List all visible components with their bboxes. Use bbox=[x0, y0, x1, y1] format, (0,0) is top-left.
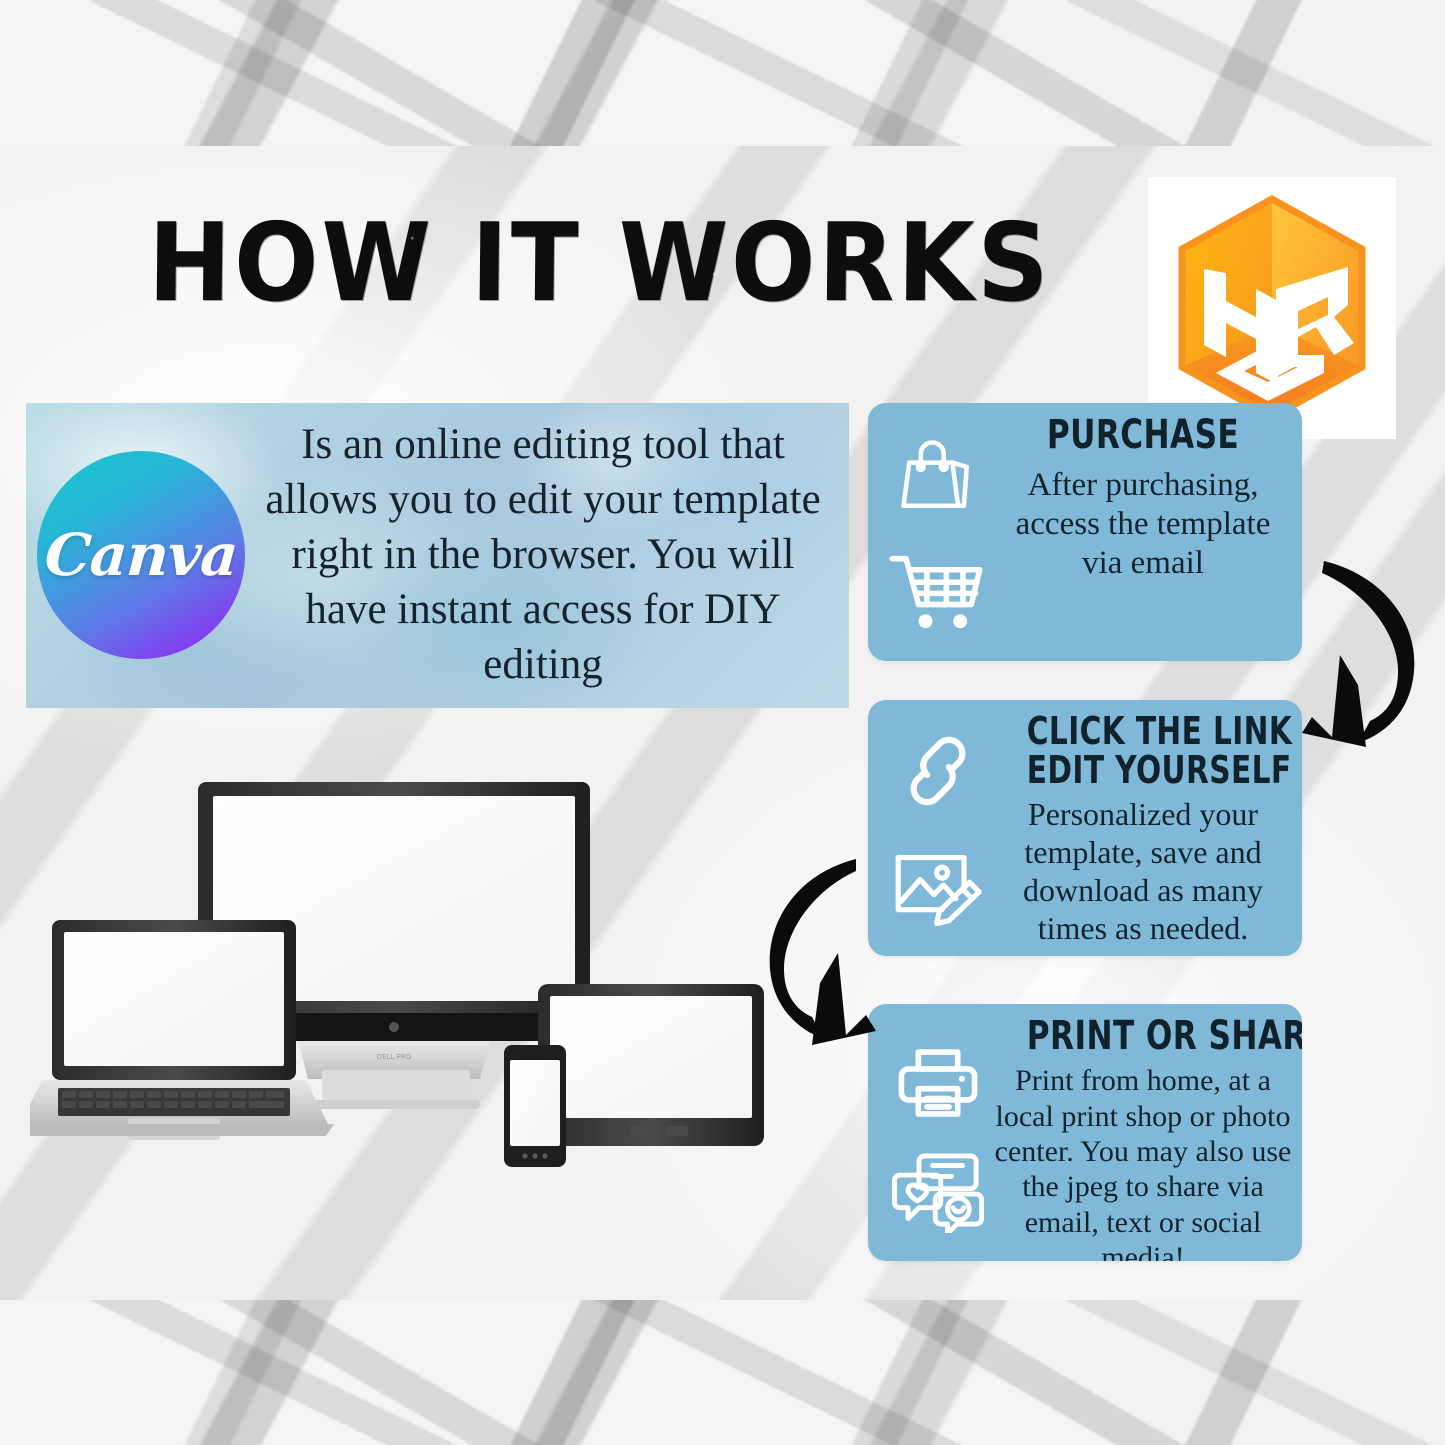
paper-texture-top-border bbox=[0, 0, 1445, 146]
edit-text-block: CLICK THE LINK AND EDIT YOURSELF Persona… bbox=[994, 712, 1292, 947]
edit-title-line1: CLICK THE LINK AND bbox=[1027, 712, 1259, 751]
canva-info-panel: Canva Is an online editing tool that all… bbox=[26, 403, 849, 708]
hrg-cube-icon bbox=[1148, 177, 1396, 439]
print-share-text-block: PRINT OR SHARE Print from home, at a loc… bbox=[994, 1016, 1292, 1261]
shopping-bag-icon bbox=[892, 431, 984, 523]
laptop bbox=[30, 920, 334, 1140]
devices-illustration: DELL PRO bbox=[30, 770, 775, 1190]
tablet bbox=[538, 984, 764, 1146]
smartphone bbox=[504, 1045, 566, 1167]
step-card-print-share[interactable]: PRINT OR SHARE Print from home, at a loc… bbox=[868, 1004, 1302, 1261]
shopping-cart-icon bbox=[888, 550, 988, 634]
edit-title-line2: EDIT YOURSELF bbox=[1027, 751, 1259, 790]
print-share-description: Print from home, at a local print shop o… bbox=[994, 1063, 1292, 1261]
image-edit-pencil-icon bbox=[890, 843, 986, 927]
edit-description: Personalized your template, save and dow… bbox=[994, 796, 1292, 947]
curved-arrow-down-left-icon bbox=[1296, 545, 1438, 755]
brand-logo-card bbox=[1148, 177, 1396, 439]
purchase-text-block: PURCHASE After purchasing, access the te… bbox=[994, 415, 1292, 583]
printer-icon bbox=[893, 1032, 983, 1120]
canva-logo: Canva bbox=[37, 451, 245, 659]
svg-text:DELL PRO: DELL PRO bbox=[377, 1053, 412, 1061]
print-share-icon-group bbox=[882, 1018, 994, 1247]
canva-description: Is an online editing tool that allows yo… bbox=[248, 417, 838, 692]
canva-wordmark: Canva bbox=[43, 521, 240, 589]
infographic-page: HOW IT WORKS bbox=[0, 0, 1445, 1445]
curved-arrow-down-left bbox=[1296, 545, 1438, 755]
edit-icon-group bbox=[882, 714, 994, 942]
curved-arrow-down-right bbox=[752, 845, 884, 1050]
purchase-description: After purchasing, access the template vi… bbox=[994, 466, 1292, 583]
paper-texture-bottom-border bbox=[0, 1300, 1445, 1445]
print-share-title: PRINT OR SHARE bbox=[1027, 1016, 1259, 1057]
device-mockup-image: DELL PRO bbox=[30, 770, 775, 1190]
step-card-click-link-edit[interactable]: CLICK THE LINK AND EDIT YOURSELF Persona… bbox=[868, 700, 1302, 956]
step-card-purchase[interactable]: PURCHASE After purchasing, access the te… bbox=[868, 403, 1302, 661]
curved-arrow-down-right-icon bbox=[752, 845, 884, 1050]
link-chain-icon bbox=[892, 729, 984, 813]
page-title: HOW IT WORKS bbox=[147, 210, 810, 318]
purchase-icon-group bbox=[882, 417, 994, 647]
purchase-title: PURCHASE bbox=[1027, 415, 1259, 456]
chat-bubbles-share-icon bbox=[889, 1147, 987, 1233]
